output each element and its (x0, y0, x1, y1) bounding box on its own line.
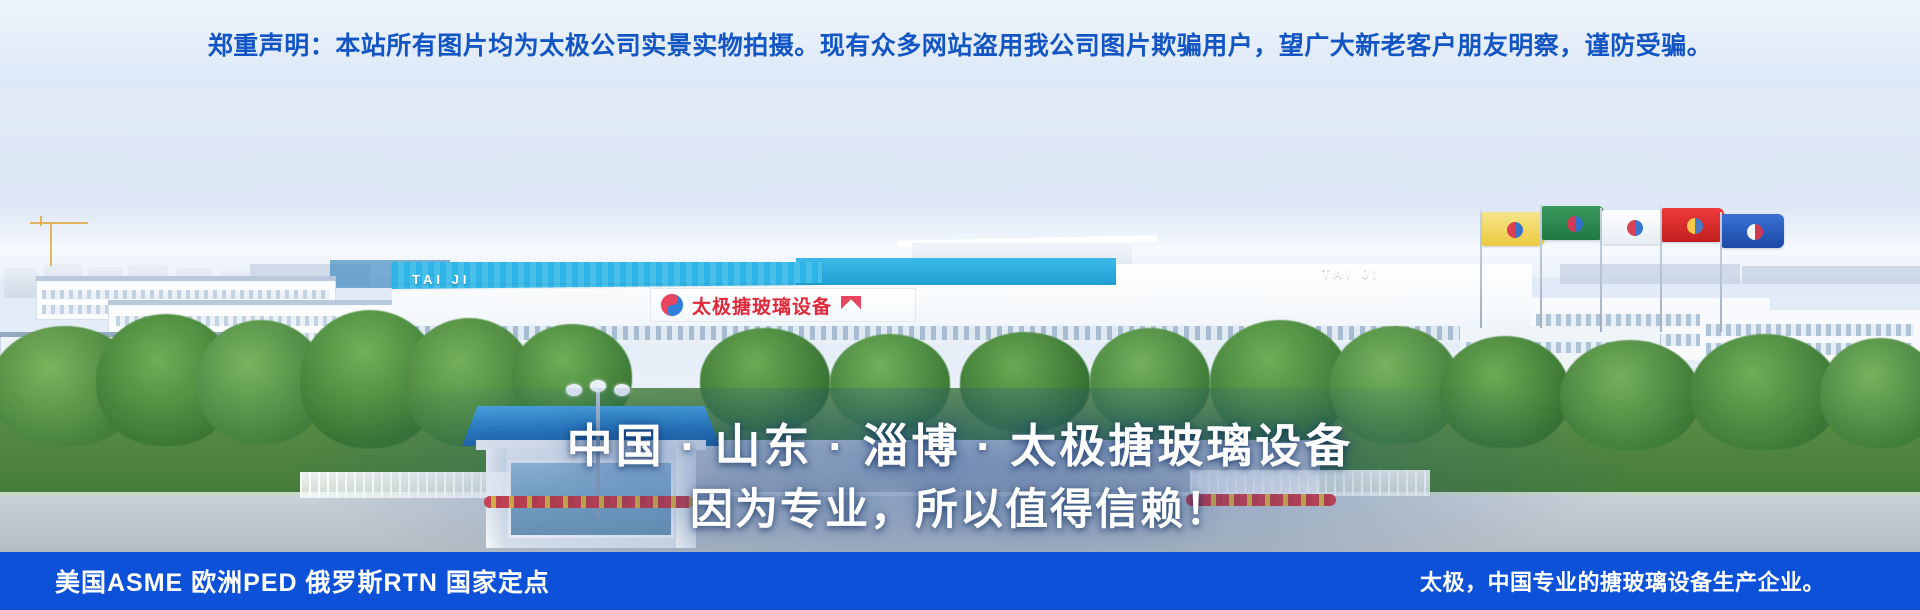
facade-text-taiji-right: TAI JI (1322, 266, 1380, 281)
facade-sign-text: 太极搪玻璃设备 (692, 292, 832, 319)
flag-red (1662, 208, 1724, 242)
flag-blue (1722, 214, 1784, 248)
flowerbed-left (484, 496, 694, 508)
announcement-text: 郑重声明：本站所有图片均为太极公司实景实物拍摄。现有众多网站盗用我公司图片欺骗用… (208, 26, 1713, 62)
facade-text-taiji-left: TAI JI (412, 272, 470, 287)
distant-building-4 (1560, 264, 1740, 284)
fence-right (1190, 470, 1430, 496)
mountain-mark-icon (841, 296, 861, 314)
flag-white (1602, 210, 1664, 244)
facade-band-center (796, 258, 1116, 285)
flag-yellow (1482, 212, 1544, 246)
front-road (0, 496, 1920, 552)
distant-building-5 (1742, 266, 1920, 284)
bottom-bar-slogan: 太极，中国专业的搪玻璃设备生产企业。 (1420, 552, 1825, 610)
lamp-head-icon (566, 380, 630, 402)
factory-photo: TAI JI TAI JI 太极搪玻璃设备 (0, 88, 1920, 552)
construction-crane-icon (30, 216, 110, 266)
fence-left (300, 472, 510, 498)
facade-company-sign: 太极搪玻璃设备 (650, 288, 916, 322)
bottom-bar-certifications: 美国ASME 欧洲PED 俄罗斯RTN 国家定点 (55, 552, 550, 610)
yinyang-logo-icon (661, 294, 683, 316)
bottom-bar: 美国ASME 欧洲PED 俄罗斯RTN 国家定点 太极，中国专业的搪玻璃设备生产… (0, 552, 1920, 610)
flag-green (1542, 206, 1604, 240)
flowerbed-right (1186, 494, 1336, 506)
hero-banner: 郑重声明：本站所有图片均为太极公司实景实物拍摄。现有众多网站盗用我公司图片欺骗用… (0, 0, 1920, 610)
announcement-bar: 郑重声明：本站所有图片均为太极公司实景实物拍摄。现有众多网站盗用我公司图片欺骗用… (0, 0, 1920, 88)
